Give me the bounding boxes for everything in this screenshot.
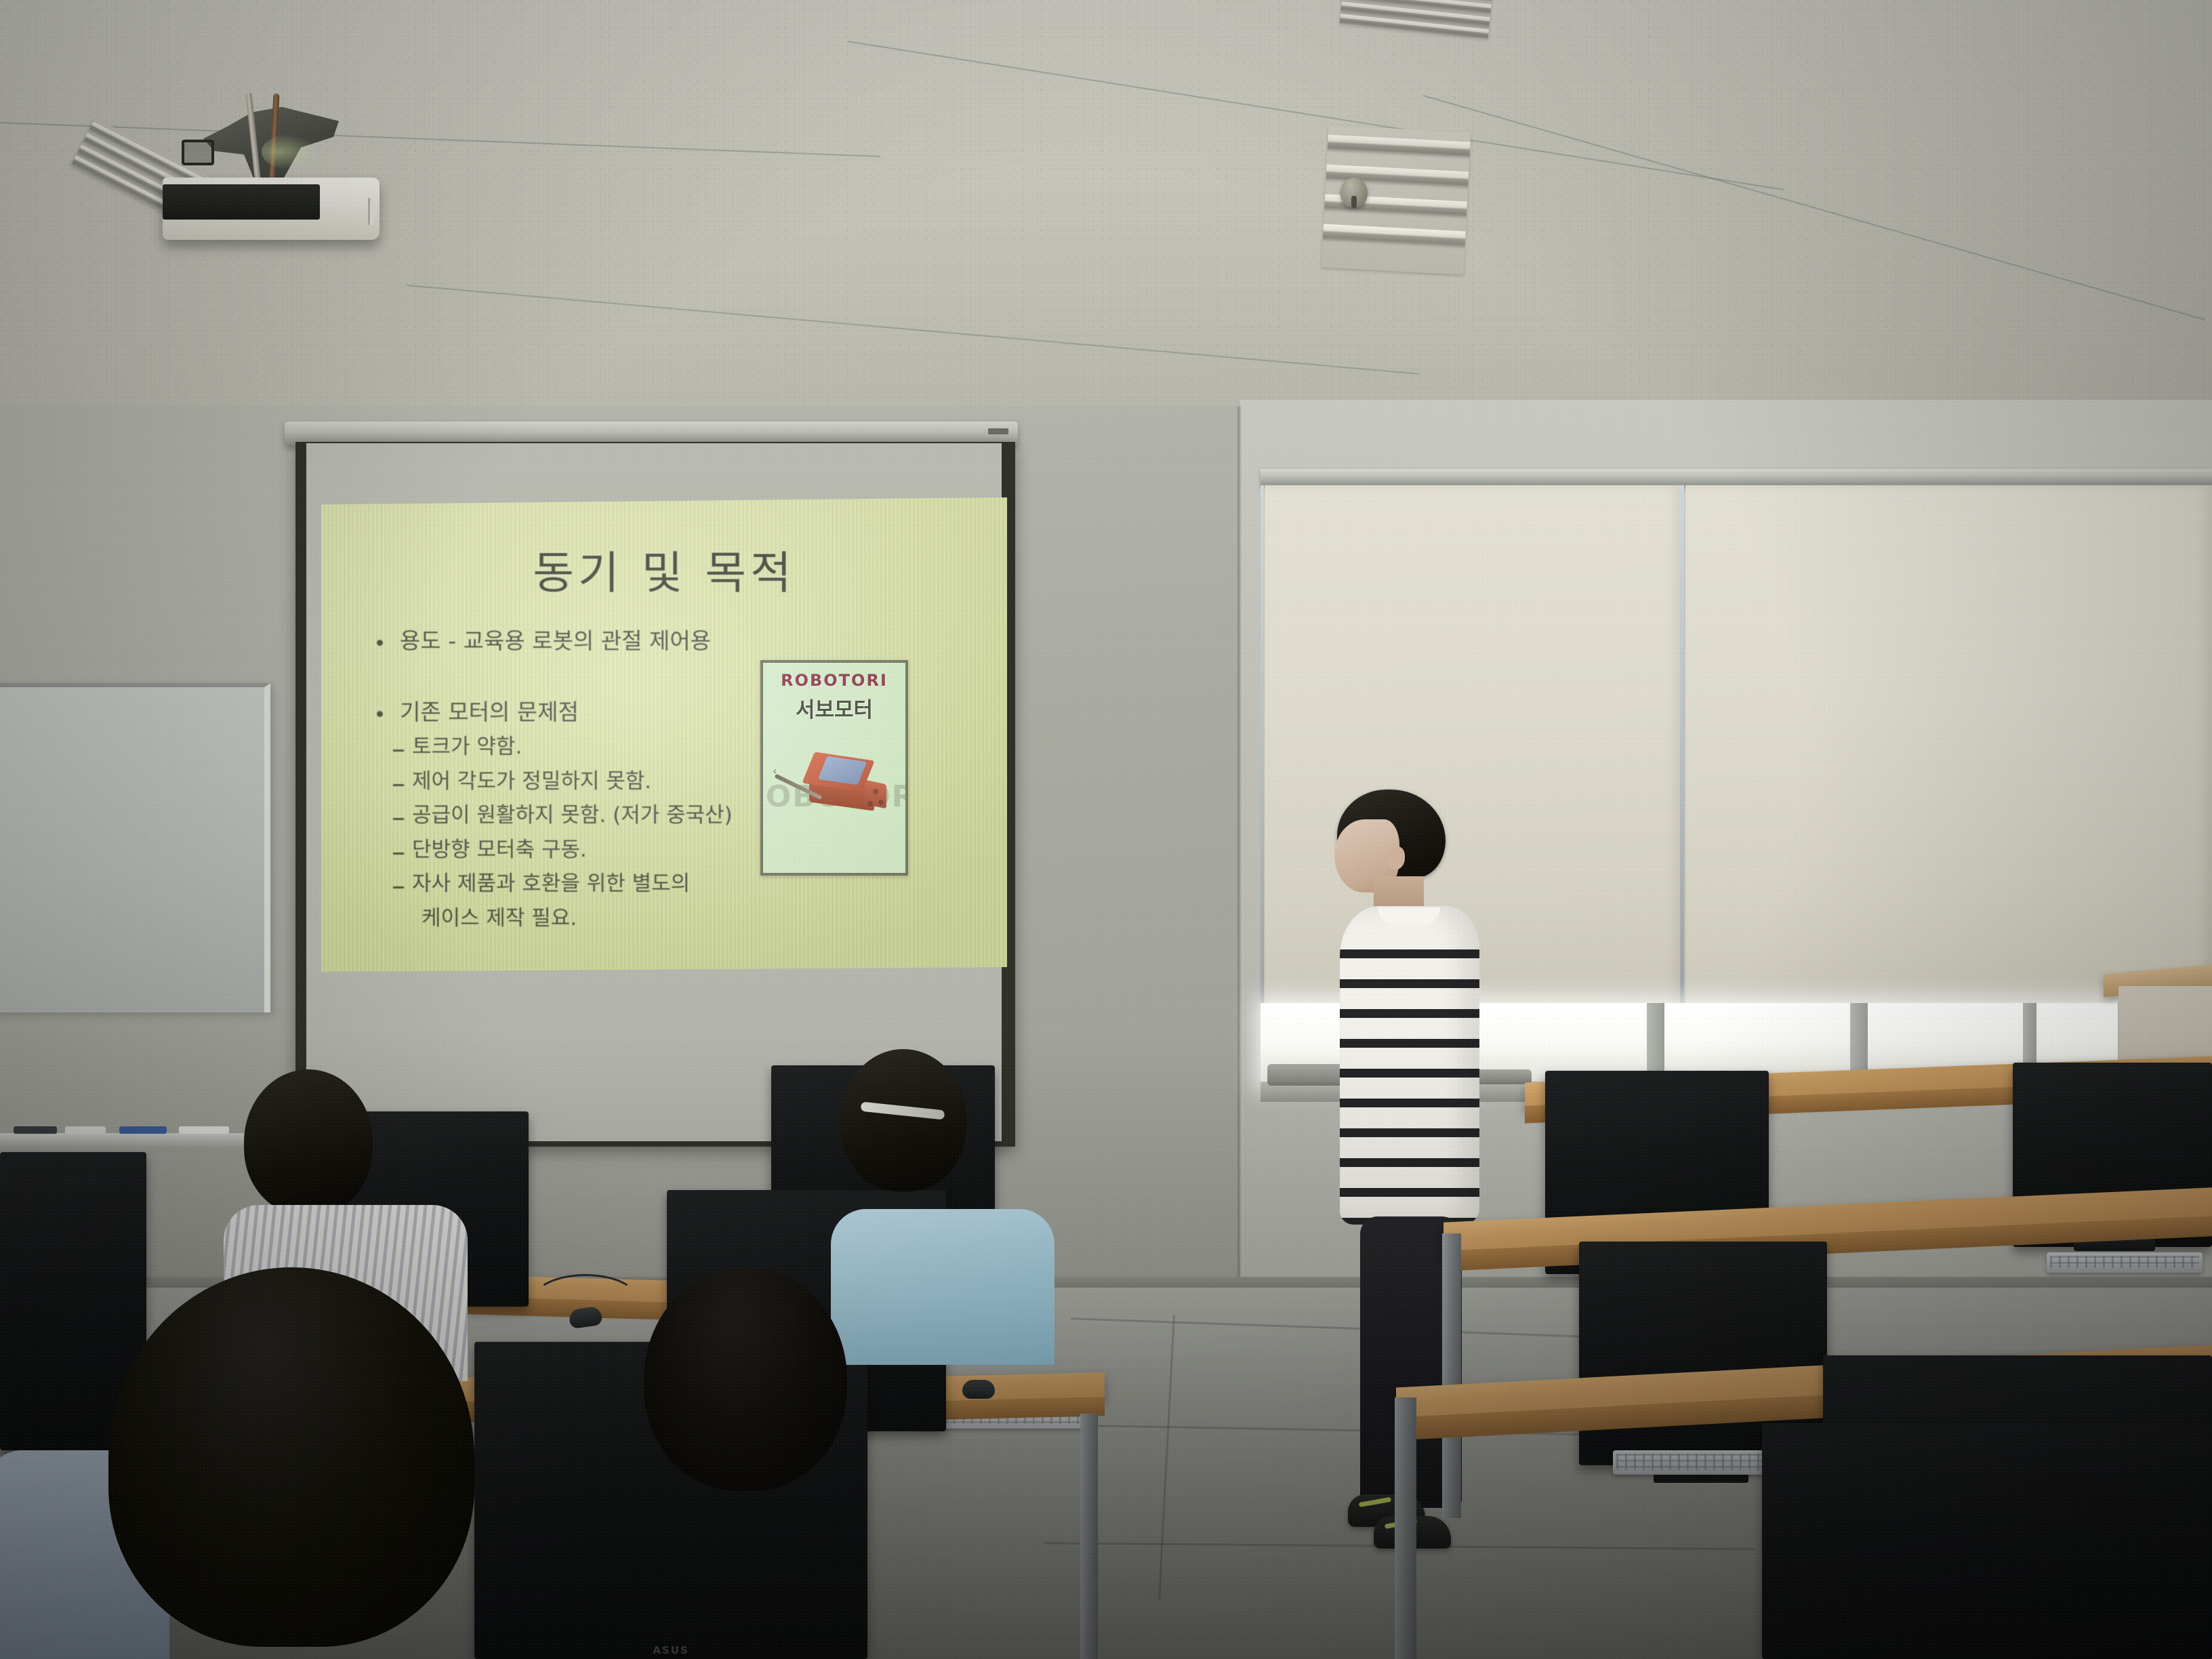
roller-blind-right[interactable] [1685, 485, 2212, 1014]
projector-front-panel [163, 184, 320, 220]
student-head [840, 1049, 966, 1191]
monitor-foreground-right [1762, 1423, 2212, 1659]
mouse-center [962, 1380, 995, 1399]
ceiling-projector [102, 102, 413, 319]
slide-body: 용도 - 교육용 로봇의 관절 제어용 기존 모터의 문제점 토크가 약함. 제… [362, 630, 796, 930]
presenter-ear [1387, 846, 1405, 869]
student-head [244, 1069, 373, 1215]
whiteboard-eraser [179, 1126, 229, 1134]
screen-case-endcap [988, 428, 1008, 434]
projector-vent [368, 198, 373, 225]
student-front-left [644, 1267, 867, 1511]
sprinkler-head [1340, 178, 1368, 207]
projector-body [163, 178, 380, 240]
slide-subbullet-1: 토크가 약함. [362, 736, 796, 758]
projector-light-glow [262, 134, 319, 169]
whiteboard-marker [14, 1126, 57, 1134]
desk-leg [1395, 1397, 1416, 1659]
product-brand-label: ROBOTORI [763, 671, 905, 690]
slide-subbullet-2: 제어 각도가 정밀하지 못함. [362, 771, 796, 793]
student-head [108, 1267, 474, 1647]
projection-screen: 동기 및 목적 용도 - 교육용 로봇의 관절 제어용 기존 모터의 문제점 토… [295, 442, 1015, 1147]
projected-slide: 동기 및 목적 용도 - 교육용 로봇의 관절 제어용 기존 모터의 문제점 토… [321, 497, 1007, 972]
slide-bullet-problems: 기존 모터의 문제점 [362, 701, 796, 724]
slide-bullet-usage: 용도 - 교육용 로봇의 관절 제어용 [362, 630, 796, 653]
classroom-photo: 동기 및 목적 용도 - 교육용 로봇의 관절 제어용 기존 모터의 문제점 토… [0, 0, 2212, 1659]
keyboard-far-right [2047, 1252, 2203, 1273]
student-head [644, 1267, 847, 1491]
slide-subbullet-6: 케이스 제작 필요. [362, 907, 796, 930]
student-foreground-center [108, 1267, 501, 1659]
presenter-collar [1378, 907, 1440, 925]
monitor-brand-label: ASUS [653, 1644, 689, 1656]
desk-leg [1080, 1414, 1098, 1659]
slide-product-image: ROBOTORI 서보모터 ROBOTORI ‹ [760, 660, 908, 876]
wall-corner [1237, 407, 1243, 1308]
shoe-lace [1359, 1497, 1391, 1507]
projection-screen-surface: 동기 및 목적 용도 - 교육용 로봇의 관절 제어용 기존 모터의 문제점 토… [306, 443, 1002, 1141]
slide-subbullet-4: 단방향 모터축 구동. [362, 839, 796, 861]
whiteboard-marker [65, 1126, 106, 1134]
mouse-cable [533, 1274, 638, 1326]
slide-spacer [362, 659, 796, 701]
blind-seam [1680, 485, 1684, 1014]
servo-motor-illustration [802, 750, 886, 823]
slide-subbullet-3: 공급이 원활하지 못함. (저가 중국산) [362, 804, 796, 827]
slide-subbullet-5: 자사 제품과 호환을 위한 별도의 [362, 873, 796, 895]
blind-track [1261, 469, 2212, 487]
blind-seam [1261, 485, 1264, 1014]
whiteboard-marker [119, 1126, 167, 1134]
floor-tile-seam [1158, 1315, 1175, 1599]
whiteboard [0, 683, 270, 1012]
shirt-stripes [1340, 949, 1479, 1225]
presenter-striped-shirt [1340, 906, 1479, 1225]
desk-leg [1442, 1233, 1461, 1518]
projector-lens-icon [182, 140, 214, 165]
student-center [834, 1049, 1064, 1334]
product-type-label: 서보모터 [763, 693, 905, 723]
whiteboard-marker-tray [0, 1133, 251, 1148]
slide-title: 동기 및 목적 [321, 537, 1007, 602]
